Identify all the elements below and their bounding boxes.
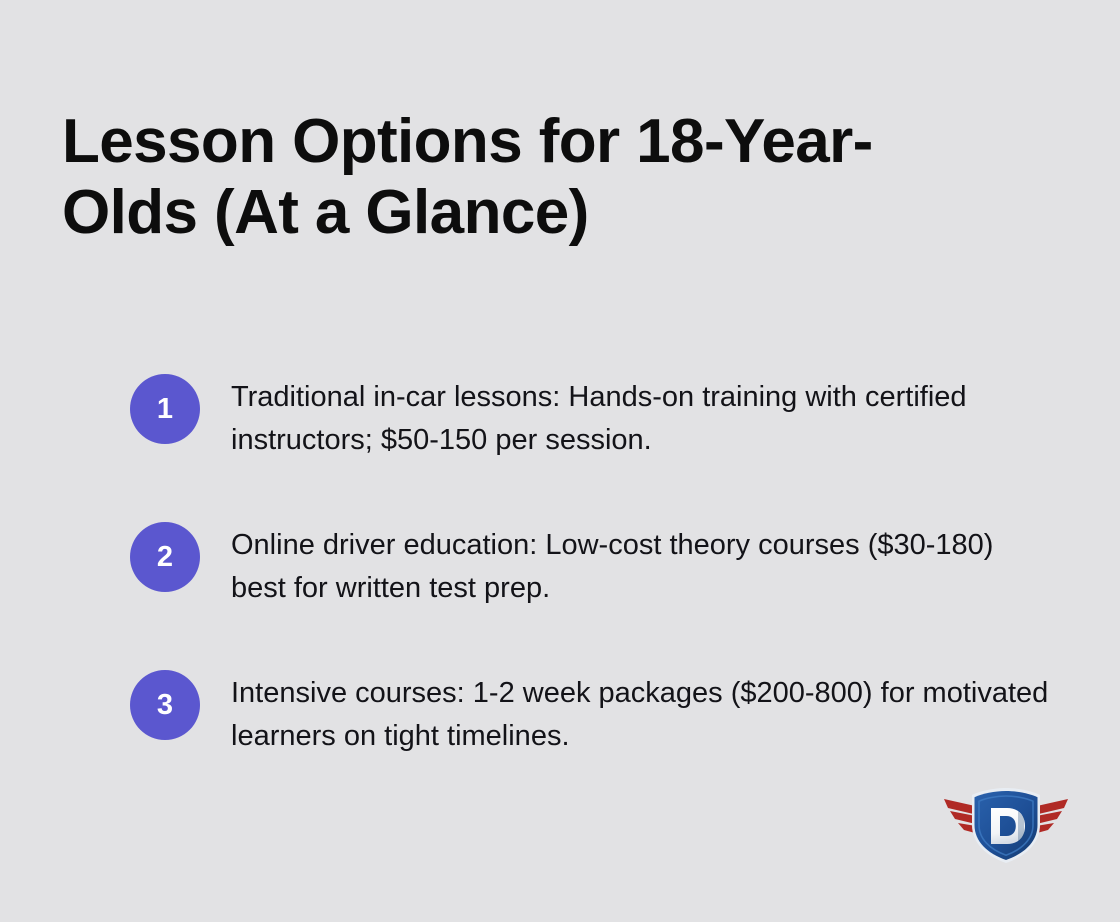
list-item-text: Traditional in-car lessons: Hands-on tra… bbox=[231, 372, 1049, 462]
list-item-number-badge: 1 bbox=[130, 374, 200, 444]
shield-wings-logo-icon bbox=[938, 786, 1074, 864]
list-item: 3 Intensive courses: 1-2 week packages (… bbox=[130, 668, 1060, 758]
page-title: Lesson Options for 18-Year-Olds (At a Gl… bbox=[62, 106, 962, 249]
lesson-options-list: 1 Traditional in-car lessons: Hands-on t… bbox=[130, 372, 1060, 758]
list-item-text: Online driver education: Low-cost theory… bbox=[231, 520, 1049, 610]
infographic-canvas: Lesson Options for 18-Year-Olds (At a Gl… bbox=[0, 0, 1120, 922]
list-item-number-badge: 2 bbox=[130, 522, 200, 592]
list-item: 2 Online driver education: Low-cost theo… bbox=[130, 520, 1060, 610]
list-item-number-badge: 3 bbox=[130, 670, 200, 740]
brand-logo bbox=[938, 786, 1074, 864]
list-item-text: Intensive courses: 1-2 week packages ($2… bbox=[231, 668, 1049, 758]
list-item: 1 Traditional in-car lessons: Hands-on t… bbox=[130, 372, 1060, 462]
